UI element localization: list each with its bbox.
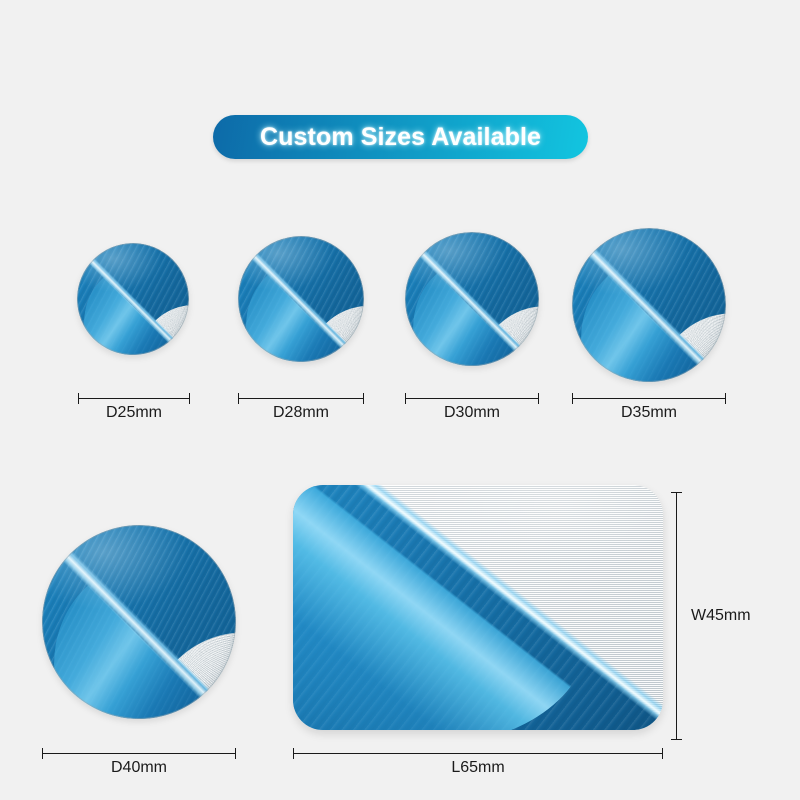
disc-rim (77, 243, 189, 355)
dimension-cap-left (238, 393, 239, 404)
dimension-line-d28 (238, 398, 364, 399)
dimension-cap-right (725, 393, 726, 404)
dimension-label-width: W45mm (691, 607, 751, 625)
custom-sizes-banner: Custom Sizes Available (213, 115, 588, 159)
dimension-label-d25: D25mm (78, 404, 190, 422)
custom-sizes-banner-label: Custom Sizes Available (260, 123, 541, 152)
dimension-cap-right (189, 393, 190, 404)
disc-rim (572, 228, 726, 382)
dimension-line-d25 (78, 398, 190, 399)
surface-gloss (293, 485, 663, 730)
disc-rim (238, 236, 364, 362)
product-disc-d25 (77, 243, 189, 355)
disc-rim (405, 232, 539, 366)
dimension-line-width (676, 492, 677, 740)
product-size-chart: Custom Sizes Available (0, 0, 800, 800)
dimension-cap-bottom (671, 739, 682, 740)
dimension-cap-left (572, 393, 573, 404)
dimension-cap-right (538, 393, 539, 404)
product-disc-d30 (405, 232, 539, 366)
dimension-cap-right (363, 393, 364, 404)
dimension-line-length (293, 753, 663, 754)
dimension-line-d40 (42, 753, 236, 754)
product-disc-d35 (572, 228, 726, 382)
dimension-line-d35 (572, 398, 726, 399)
dimension-label-d40: D40mm (42, 759, 236, 777)
dimension-cap-left (405, 393, 406, 404)
dimension-cap-top (671, 492, 682, 493)
dimension-cap-left (42, 748, 43, 759)
dimension-cap-right (662, 748, 663, 759)
dimension-line-d30 (405, 398, 539, 399)
dimension-cap-left (293, 748, 294, 759)
product-disc-d28 (238, 236, 364, 362)
disc-rim (42, 525, 236, 719)
dimension-label-d35: D35mm (572, 404, 726, 422)
dimension-cap-right (235, 748, 236, 759)
dimension-cap-left (78, 393, 79, 404)
product-rounded-rectangle (293, 485, 663, 730)
product-disc-d40 (42, 525, 236, 719)
dimension-label-d28: D28mm (238, 404, 364, 422)
dimension-label-d30: D30mm (405, 404, 539, 422)
dimension-label-length: L65mm (293, 759, 663, 777)
